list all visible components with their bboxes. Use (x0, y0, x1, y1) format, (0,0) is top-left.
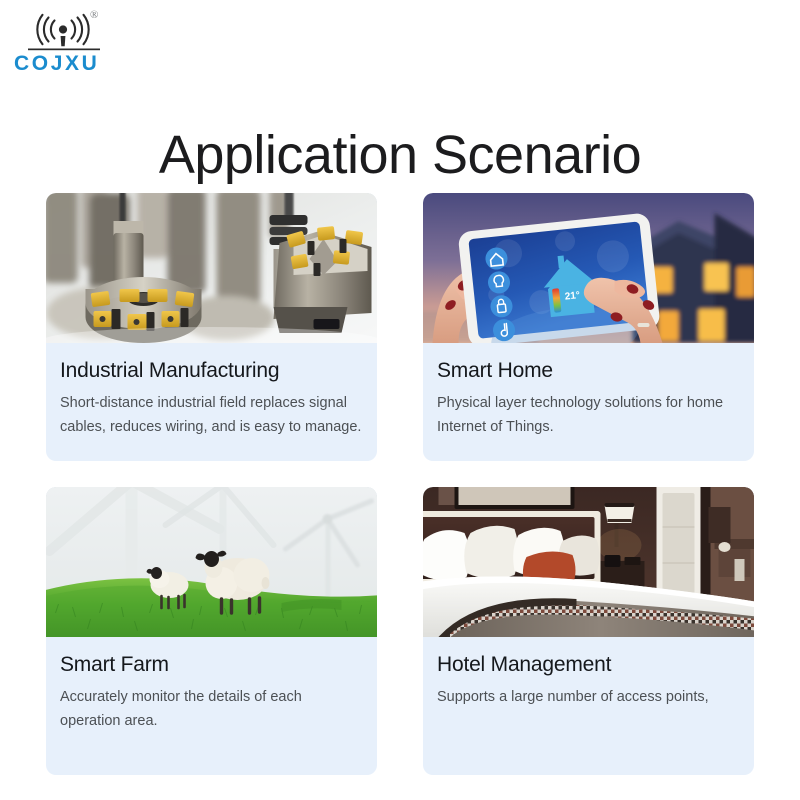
card-title: Smart Home (437, 359, 740, 383)
scenario-card-industrial-manufacturing[interactable]: Industrial Manufacturing Short-distance … (46, 193, 377, 461)
card-title: Hotel Management (437, 653, 740, 677)
wireless-signal-antenna-icon (14, 8, 118, 54)
card-body: Smart Home Physical layer technology sol… (423, 343, 754, 461)
tablet-smart-home-app-photo: 21° (423, 193, 754, 343)
card-row-top: Industrial Manufacturing Short-distance … (46, 193, 754, 461)
scenario-card-smart-home[interactable]: 21° Smart Home Physical la (423, 193, 754, 461)
card-title: Smart Farm (60, 653, 363, 677)
sheep-wind-turbines-field-photo (46, 487, 377, 637)
brand-logo: ® COJXU (14, 8, 134, 76)
scenario-card-grid: Industrial Manufacturing Short-distance … (46, 193, 754, 775)
card-body: Industrial Manufacturing Short-distance … (46, 343, 377, 461)
card-description: Accurately monitor the details of each o… (60, 686, 363, 733)
registered-trademark-icon: ® (90, 10, 98, 21)
card-description: Physical layer technology solutions for … (437, 392, 740, 439)
scenario-card-smart-farm[interactable]: Smart Farm Accurately monitor the detail… (46, 487, 377, 775)
card-title: Industrial Manufacturing (60, 359, 363, 383)
brand-wordmark: COJXU (14, 53, 99, 74)
svg-text:21°: 21° (564, 290, 580, 303)
card-description: Short-distance industrial field replaces… (60, 392, 363, 439)
hotel-room-bed-photo (423, 487, 754, 637)
card-body: Smart Farm Accurately monitor the detail… (46, 637, 377, 775)
card-row-bottom: Smart Farm Accurately monitor the detail… (46, 487, 754, 775)
page-title: Application Scenario (0, 124, 800, 186)
card-body: Hotel Management Supports a large number… (423, 637, 754, 752)
industrial-milling-cutters-photo (46, 193, 377, 343)
scenario-card-hotel-management[interactable]: Hotel Management Supports a large number… (423, 487, 754, 775)
card-description: Supports a large number of access points… (437, 686, 740, 709)
